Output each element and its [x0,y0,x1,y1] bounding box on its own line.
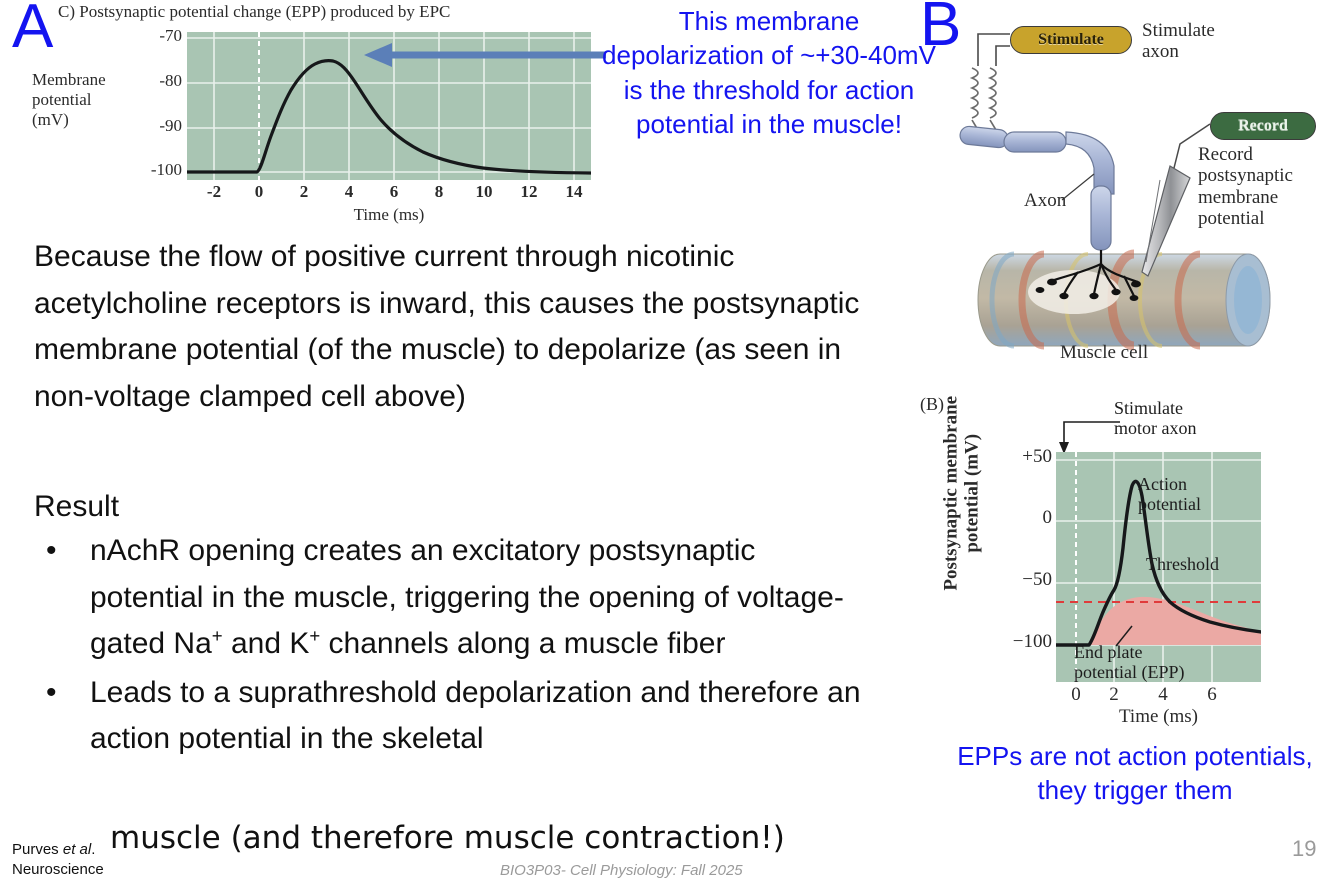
figure-a-xtick--2: -2 [207,182,221,202]
electrode-coils [972,68,996,130]
figure-b-stimulate-line2: motor axon [1114,418,1197,438]
figure-a-xtick-4: 4 [345,182,354,202]
figure-a-epp-chart: C) Postsynaptic potential change (EPP) p… [18,2,598,232]
figure-a-x-axis-label: Time (ms) [187,205,591,225]
figure-b-nmj-diagram: Stimulate Record Stimulate axon Record p… [948,4,1340,376]
figure-a-ytick--80: -80 [159,71,182,91]
figure-b-xtick-4: 4 [1158,684,1168,706]
muscle-cell-shape [978,254,1270,346]
muscle-cell-label: Muscle cell [1060,342,1148,363]
bullet-marker-icon: • [46,670,57,717]
bullet-marker-icon: • [46,528,57,575]
citation-author: Purves [12,841,63,858]
stimulate-axon-label: Stimulate axon [1142,20,1215,63]
citation-line1: Purves et al. [12,840,212,860]
figure-b-ytick--100: −100 [1013,631,1052,653]
figure-a-ytick--90: -90 [159,116,182,136]
figure-b-xtick-0: 0 [1071,684,1081,706]
stimulate-axon-line1: Stimulate [1142,20,1215,41]
figure-b-action-potential-chart: (B) Postsynaptic membrane potential (mV)… [916,392,1340,732]
figure-b-ytick--50: −50 [1022,569,1052,591]
record-label-line1: Record [1198,144,1293,165]
annotation-arrow [360,40,612,72]
record-label-line3: membrane [1198,187,1293,208]
record-button[interactable]: Record [1210,112,1316,140]
figure-a-xtick-0: 0 [255,182,264,202]
slide-number: 19 [1292,836,1316,862]
figure-b-xtick-6: 6 [1207,684,1217,706]
figure-b-ytick-0: 0 [1043,507,1053,529]
figure-a-epp-trace [187,61,591,173]
figure-b-stimulate-annotation: Stimulate motor axon [1114,398,1197,438]
figure-b-ap-line2: potential [1138,494,1201,514]
annotation-top-blue: This membrane depolarization of ~+30-40m… [596,4,942,141]
citation-etal: et al [63,841,91,858]
figure-b-y-axis-label: Postsynaptic membrane potential (mV) [941,393,984,593]
axon-shape [959,126,1114,250]
annotation-bottom-blue: EPPs are not action potentials, they tri… [950,740,1320,808]
figure-b-ylabel-line2: potential (mV) [962,393,983,593]
figure-b-xtick-2: 2 [1109,684,1119,706]
citation-line2: Neuroscience [12,860,212,880]
course-footer: BIO3P03- Cell Physiology: Fall 2025 [500,862,743,879]
figure-a-xtick-12: 12 [521,182,538,202]
record-membrane-potential-label: Record postsynaptic membrane potential [1198,144,1293,229]
figure-a-xtick-10: 10 [476,182,493,202]
figure-b-x-axis-label: Time (ms) [1056,706,1261,728]
figure-b-epp-line2: potential (EPP) [1074,662,1185,682]
stimulator-wires [978,34,1010,66]
figure-a-y-tick-labels: -70 -80 -90 -100 [124,26,182,186]
list-item-text: nAchR opening creates an excitatory post… [90,534,844,660]
figure-b-y-tick-labels: +50 0 −50 −100 [994,446,1052,688]
figure-a-ytick--70: -70 [159,26,182,46]
record-label-line4: potential [1198,208,1293,229]
body-paragraph: Because the flow of positive current thr… [34,234,864,420]
figure-b-epp-leader-line [1112,624,1138,650]
figure-a-xtick-8: 8 [435,182,444,202]
figure-b-action-potential-annotation: Action potential [1138,474,1201,514]
stimulate-button[interactable]: Stimulate [1010,26,1132,54]
figure-a-xtick-14: 14 [566,182,583,202]
axon-label: Axon [1024,190,1066,211]
result-bullet-list: • nAchR opening creates an excitatory po… [34,528,864,765]
figure-a-xtick-2: 2 [300,182,309,202]
figure-a-x-tick-labels: -2 0 2 4 6 8 10 12 14 [187,182,591,206]
citation-period: . [91,841,95,858]
figure-a-xtick-6: 6 [390,182,399,202]
figure-b-stimulate-line1: Stimulate [1114,398,1197,418]
citation: Purves et al. Neuroscience [12,840,212,881]
list-item: • nAchR opening creates an excitatory po… [34,528,864,668]
figure-a-title: C) Postsynaptic potential change (EPP) p… [58,2,450,22]
figure-b-ylabel-line1: Postsynaptic membrane [941,393,962,593]
stimulate-axon-line2: axon [1142,41,1215,62]
result-heading: Result [34,490,119,524]
figure-a-ytick--100: -100 [151,160,182,180]
figure-b-x-tick-labels: 0 2 4 6 [1056,684,1261,708]
record-label-line2: postsynaptic [1198,165,1293,186]
list-item-text: Leads to a suprathreshold depolarization… [90,676,861,756]
list-item: • Leads to a suprathreshold depolarizati… [34,670,864,763]
figure-b-ap-line1: Action [1138,474,1201,494]
figure-b-threshold-annotation: Threshold [1146,554,1219,574]
axon-leader-line [1062,174,1094,200]
